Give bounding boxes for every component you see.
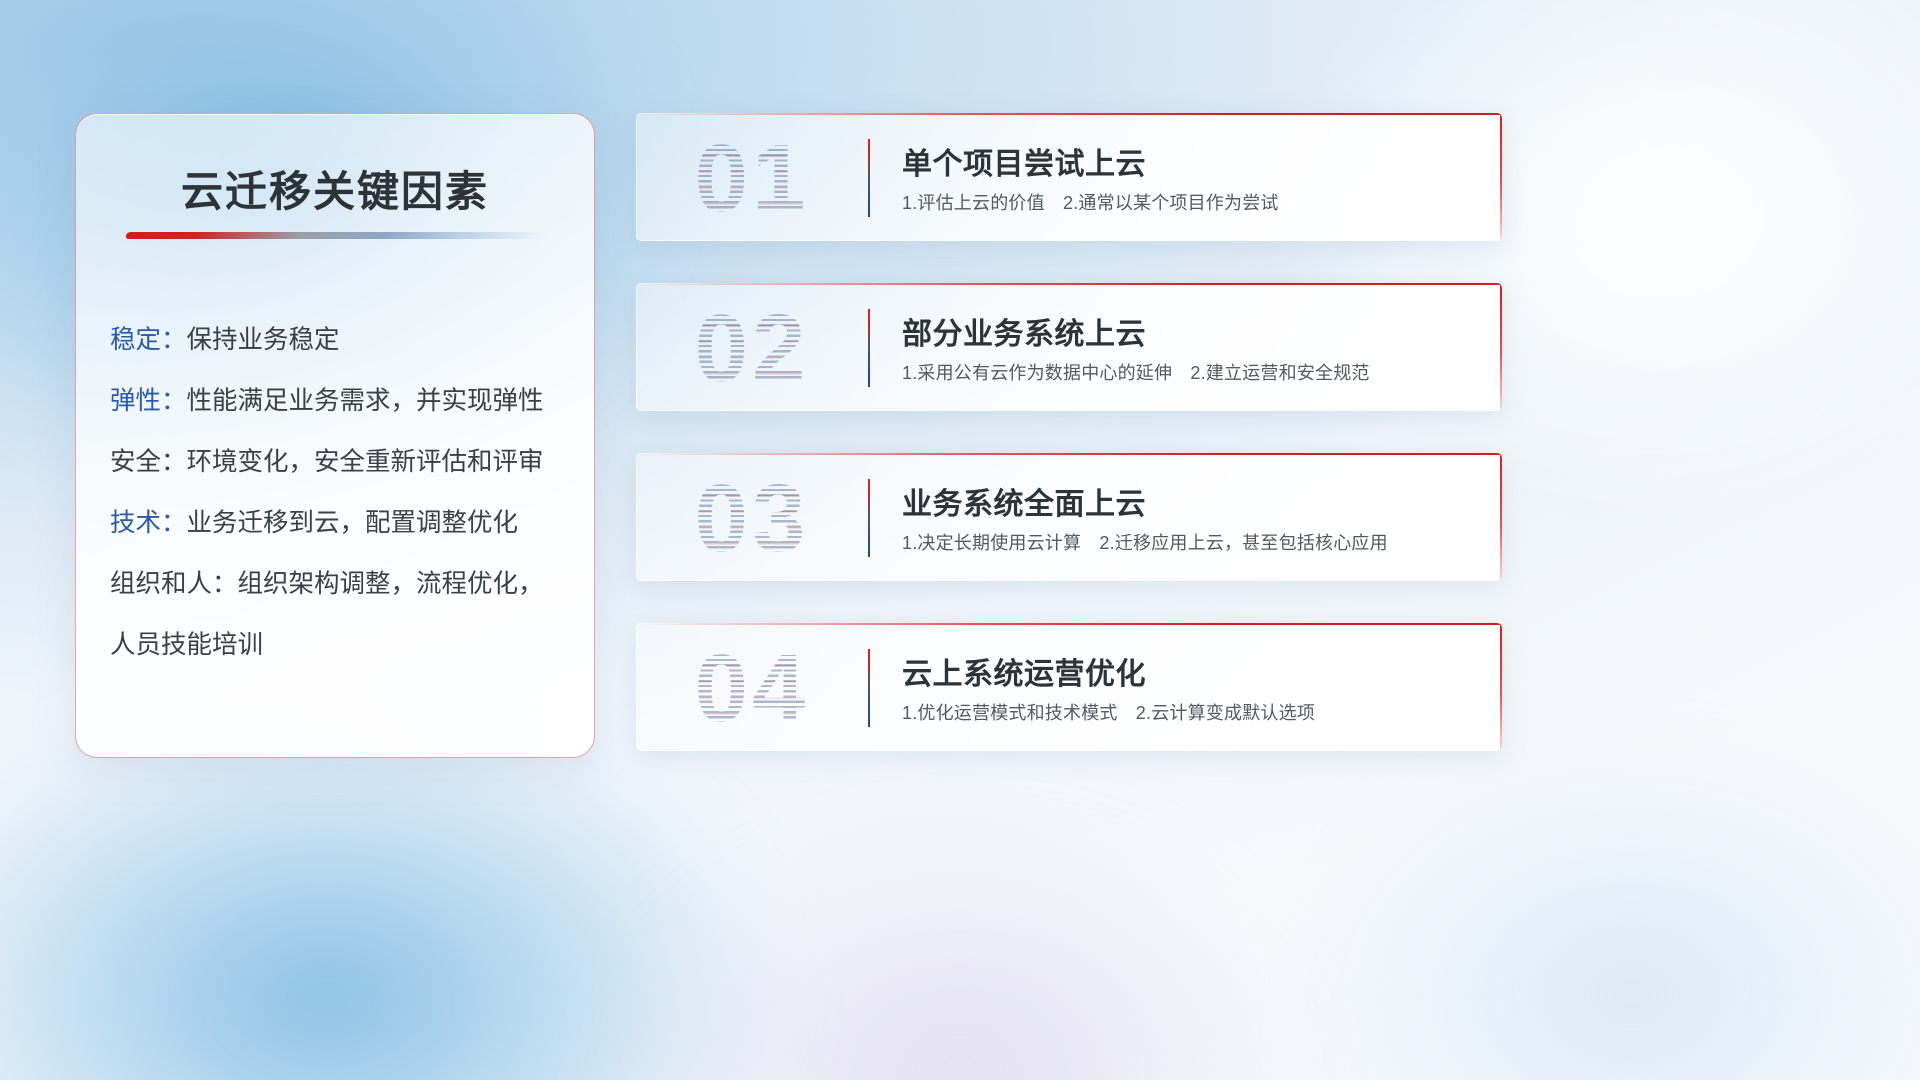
list-item-label: 弹性： xyxy=(110,387,187,415)
stage-title: 业务系统全面上云 xyxy=(902,479,1146,523)
list-item-label: 组织和人： xyxy=(110,570,238,598)
stage-divider xyxy=(868,649,870,727)
list-item-label: 安全： xyxy=(110,448,187,476)
stage-title: 部分业务系统上云 xyxy=(902,309,1146,353)
list-item-text: 业务迁移到云，配置调整优化 xyxy=(187,509,519,537)
key-factors-list: 稳定：保持业务稳定 弹性：性能满足业务需求，并实现弹性 安全：环境变化，安全重新… xyxy=(110,310,580,676)
panel-title-underline xyxy=(125,232,547,239)
list-item-text: 保持业务稳定 xyxy=(187,326,340,354)
stage-number-ghost-red-overlay: 01 xyxy=(662,123,842,235)
stage-title: 单个项目尝试上云 xyxy=(902,139,1146,183)
stage-description: 1.采用公有云作为数据中心的延伸 2.建立运营和安全规范 xyxy=(902,359,1370,385)
list-item-label: 稳定： xyxy=(110,326,187,354)
list-item: 弹性：性能满足业务需求，并实现弹性 xyxy=(110,371,580,432)
stage-title: 云上系统运营优化 xyxy=(902,649,1146,693)
panel-title: 云迁移关键因素 xyxy=(76,158,594,219)
stage-divider xyxy=(868,479,870,557)
list-item: 技术：业务迁移到云，配置调整优化 xyxy=(110,493,580,554)
stage-card-list: 01 01 单个项目尝试上云 1.评估上云的价值 2.通常以某个项目作为尝试 0… xyxy=(636,113,1502,793)
list-item-text: 人员技能培训 xyxy=(110,631,263,659)
list-item: 组织和人：组织架构调整，流程优化， xyxy=(110,554,580,615)
key-factors-panel: 云迁移关键因素 稳定：保持业务稳定 弹性：性能满足业务需求，并实现弹性 安全：环… xyxy=(75,113,595,758)
stage-card[interactable]: 01 01 单个项目尝试上云 1.评估上云的价值 2.通常以某个项目作为尝试 xyxy=(636,113,1502,241)
stage-divider xyxy=(868,139,870,217)
list-item: 安全：环境变化，安全重新评估和评审 xyxy=(110,432,580,493)
stage-divider xyxy=(868,309,870,387)
stage-description: 1.评估上云的价值 2.通常以某个项目作为尝试 xyxy=(902,189,1279,215)
list-item-continuation: 人员技能培训 xyxy=(110,615,580,676)
list-item-text: 组织架构调整，流程优化， xyxy=(238,570,544,598)
stage-number-ghost-red-overlay: 04 xyxy=(662,633,842,745)
stage-card[interactable]: 02 02 部分业务系统上云 1.采用公有云作为数据中心的延伸 2.建立运营和安… xyxy=(636,283,1502,411)
stage-card[interactable]: 03 03 业务系统全面上云 1.决定长期使用云计算 2.迁移应用上云，甚至包括… xyxy=(636,453,1502,581)
list-item-label: 技术： xyxy=(110,509,187,537)
stage-card[interactable]: 04 04 云上系统运营优化 1.优化运营模式和技术模式 2.云计算变成默认选项 xyxy=(636,623,1502,751)
stage-description: 1.优化运营模式和技术模式 2.云计算变成默认选项 xyxy=(902,699,1315,725)
list-item-text: 性能满足业务需求，并实现弹性 xyxy=(187,387,544,415)
list-item: 稳定：保持业务稳定 xyxy=(110,310,580,371)
list-item-text: 环境变化，安全重新评估和评审 xyxy=(187,448,544,476)
slide-stage: 云迁移关键因素 稳定：保持业务稳定 弹性：性能满足业务需求，并实现弹性 安全：环… xyxy=(0,0,1920,1080)
stage-description: 1.决定长期使用云计算 2.迁移应用上云，甚至包括核心应用 xyxy=(902,529,1388,555)
stage-number-ghost-red-overlay: 02 xyxy=(662,293,842,405)
stage-number-ghost-red-overlay: 03 xyxy=(662,463,842,575)
